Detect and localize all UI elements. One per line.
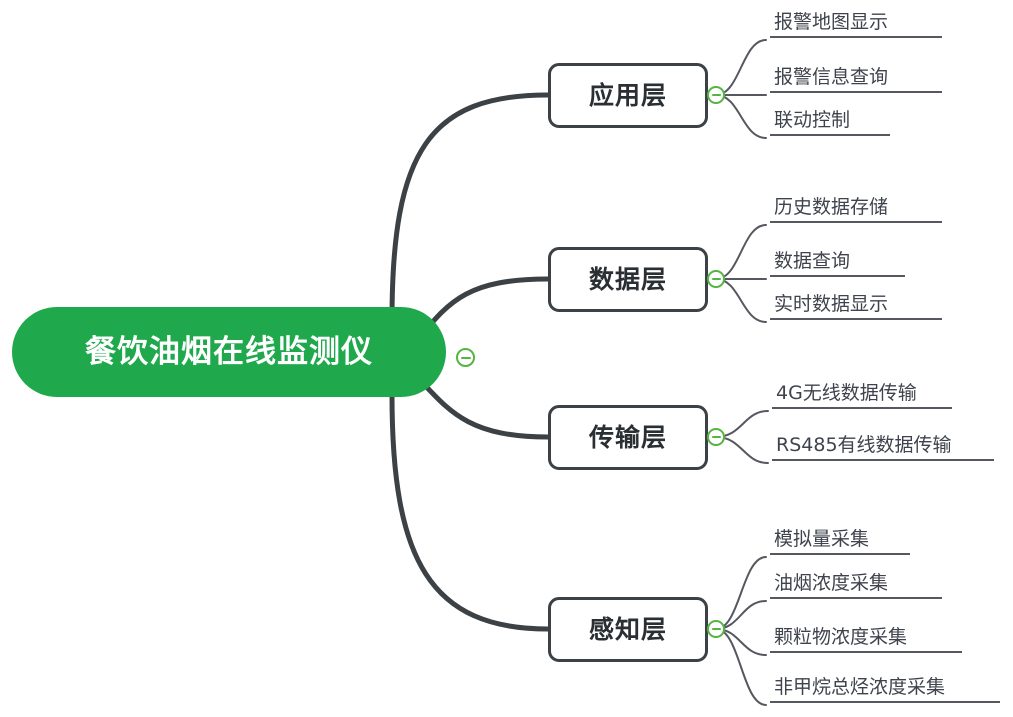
minus-bar bbox=[712, 278, 721, 280]
branch-collapse-toggle-icon-perception[interactable] bbox=[707, 620, 725, 638]
leaf-underline bbox=[770, 553, 910, 555]
leaf-label: 实时数据显示 bbox=[770, 295, 942, 318]
leaf-node-app-0[interactable]: 报警地图显示 bbox=[770, 13, 942, 38]
leaf-label: 数据查询 bbox=[770, 252, 905, 275]
leaf-label: 历史数据存储 bbox=[770, 198, 942, 221]
branch-collapse-toggle-icon-transmission[interactable] bbox=[707, 428, 725, 446]
leaf-label: 报警信息查询 bbox=[770, 68, 942, 91]
branch-node-transmission[interactable]: 传输层 bbox=[548, 405, 708, 470]
branch-node-perception[interactable]: 感知层 bbox=[548, 597, 708, 662]
leaf-label: 联动控制 bbox=[770, 111, 890, 134]
leaf-underline bbox=[770, 91, 942, 93]
leaf-underline bbox=[770, 134, 890, 136]
leaf-underline bbox=[770, 701, 1000, 703]
leaf-label: 颗粒物浓度采集 bbox=[770, 628, 962, 651]
leaf-underline bbox=[770, 221, 942, 223]
leaf-node-data-1[interactable]: 数据查询 bbox=[770, 252, 905, 277]
leaf-node-app-2[interactable]: 联动控制 bbox=[770, 111, 890, 136]
leaf-label: 4G无线数据传输 bbox=[772, 384, 952, 407]
leaf-underline bbox=[772, 459, 994, 461]
root-node[interactable]: 餐饮油烟在线监测仪 bbox=[12, 307, 446, 397]
leaf-line-app-0 bbox=[716, 40, 766, 95]
root-node-label: 餐饮油烟在线监测仪 bbox=[85, 337, 373, 368]
minus-bar bbox=[712, 628, 721, 630]
branch-line-application bbox=[392, 95, 548, 320]
branch-node-data[interactable]: 数据层 bbox=[548, 247, 708, 312]
leaf-label: 非甲烷总烃浓度采集 bbox=[770, 678, 1000, 701]
leaf-node-perc-0[interactable]: 模拟量采集 bbox=[770, 530, 910, 555]
leaf-label: 模拟量采集 bbox=[770, 530, 910, 553]
branch-node-application-label: 应用层 bbox=[589, 83, 667, 108]
leaf-underline bbox=[770, 36, 942, 38]
leaf-node-perc-1[interactable]: 油烟浓度采集 bbox=[770, 574, 942, 599]
leaf-label: 报警地图显示 bbox=[770, 13, 942, 36]
leaf-underline bbox=[770, 651, 962, 653]
leaf-line-app-2 bbox=[716, 95, 766, 138]
branch-node-application[interactable]: 应用层 bbox=[548, 63, 708, 128]
leaf-label: RS485有线数据传输 bbox=[772, 436, 994, 459]
leaf-node-perc-3[interactable]: 非甲烷总烃浓度采集 bbox=[770, 678, 1000, 703]
leaf-line-perc-0 bbox=[716, 557, 766, 629]
leaf-underline bbox=[770, 275, 905, 277]
leaf-node-app-1[interactable]: 报警信息查询 bbox=[770, 68, 942, 93]
branch-line-transmission bbox=[420, 380, 548, 437]
leaf-underline bbox=[770, 597, 942, 599]
leaf-underline bbox=[772, 407, 952, 409]
leaf-node-data-2[interactable]: 实时数据显示 bbox=[770, 295, 942, 320]
branch-node-data-label: 数据层 bbox=[589, 267, 667, 292]
leaf-line-data-2 bbox=[716, 279, 766, 322]
leaf-underline bbox=[770, 318, 942, 320]
leaf-node-trans-1[interactable]: RS485有线数据传输 bbox=[772, 436, 994, 461]
branch-collapse-toggle-icon-data[interactable] bbox=[707, 270, 725, 288]
branch-line-perception bbox=[392, 395, 548, 629]
branch-node-transmission-label: 传输层 bbox=[589, 425, 667, 450]
leaf-node-perc-2[interactable]: 颗粒物浓度采集 bbox=[770, 628, 962, 653]
leaf-line-data-0 bbox=[716, 225, 766, 279]
root-collapse-toggle-icon[interactable] bbox=[456, 348, 475, 367]
branch-collapse-toggle-icon-application[interactable] bbox=[707, 86, 725, 104]
leaf-node-data-0[interactable]: 历史数据存储 bbox=[770, 198, 942, 223]
leaf-label: 油烟浓度采集 bbox=[770, 574, 942, 597]
mindmap-canvas: 餐饮油烟在线监测仪 应用层 报警地图显示 报警信息查询 联动控制 数据层 历史数… bbox=[0, 0, 1013, 717]
minus-bar bbox=[712, 94, 721, 96]
leaf-line-perc-3 bbox=[716, 629, 766, 705]
branch-node-perception-label: 感知层 bbox=[589, 617, 667, 642]
minus-bar bbox=[461, 357, 471, 359]
minus-bar bbox=[712, 436, 721, 438]
leaf-node-trans-0[interactable]: 4G无线数据传输 bbox=[772, 384, 952, 409]
